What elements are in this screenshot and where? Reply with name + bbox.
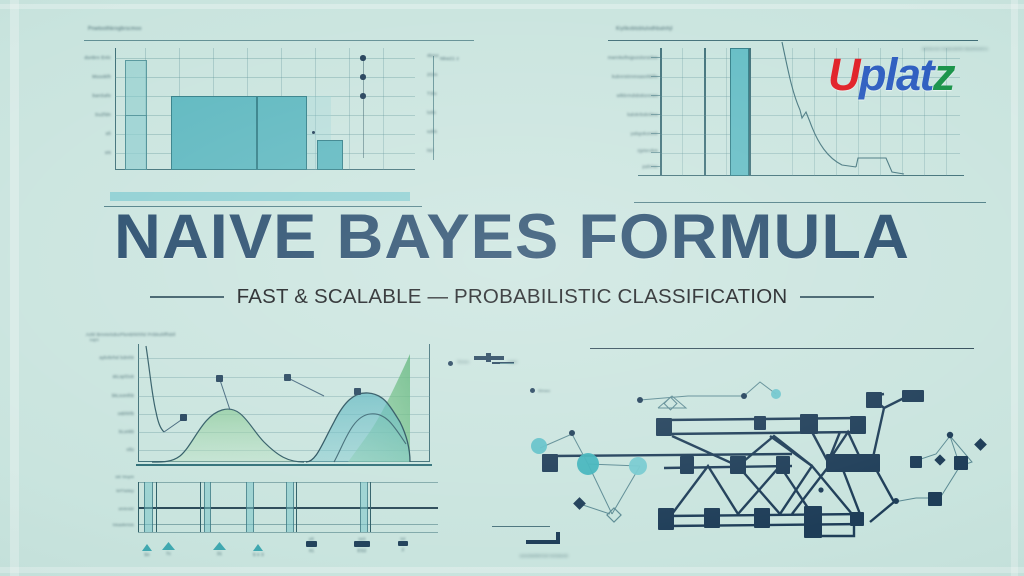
bottom-right-network-diagram: kzhzfsbfbfrl1bf brfzbknhl — [492, 336, 1016, 574]
band-divider — [370, 482, 371, 532]
top-left-bar-chart: Pnwtoothkrogbrscmoo Nkw21 z dunbrx Enlc … — [84, 26, 474, 191]
logo-letter-z: z — [933, 49, 954, 100]
chip-icon — [354, 541, 370, 547]
y-tick-label: banSafe — [92, 93, 111, 98]
chart-top-rule — [608, 40, 978, 41]
y-tick-label: nllo — [127, 447, 134, 452]
band — [360, 482, 368, 532]
gridline-h — [138, 532, 438, 533]
band-divider — [138, 482, 139, 532]
chart-baseplate — [110, 192, 410, 201]
gridline-v — [349, 48, 350, 170]
band-chip-label: 31 — [213, 551, 226, 556]
bar — [257, 96, 307, 170]
band — [286, 482, 294, 532]
y-tick-label: Muuoklh — [92, 74, 111, 79]
band-chip-label: 7c — [162, 551, 175, 556]
plot-area: aybzbrhsl bdmhk skLsplOok bkLsomlhb osbh… — [138, 344, 430, 462]
bar-segment — [125, 115, 147, 170]
network-graph — [492, 336, 1016, 574]
right-tick-label: sdkk — [427, 129, 437, 134]
annotation-marker — [180, 414, 187, 421]
chart-top-rule — [84, 40, 474, 41]
marker-guide-line — [363, 58, 364, 158]
gridline-h — [115, 77, 415, 78]
band — [144, 482, 153, 532]
distribution-curves — [138, 344, 430, 462]
triangle-icon — [253, 544, 263, 551]
band-chip-label: 41 — [306, 548, 317, 553]
bottom-left-band-chart: skl hluym lkfTlsbkp slnbrsbl hlsadbrlsls — [138, 482, 438, 532]
band-chip-label: ES2 — [354, 548, 370, 553]
band — [246, 482, 254, 532]
triangle-icon — [213, 542, 226, 550]
y-tick-label: sfi — [106, 131, 111, 136]
y-tick-label: slnbrsbl — [119, 506, 134, 511]
legend-dot-icon — [448, 361, 453, 366]
annotation-marker — [216, 375, 223, 382]
scatter-dot — [360, 55, 366, 61]
band-chip-top: b4 — [398, 536, 408, 541]
chip-icon — [306, 541, 317, 547]
chart-title-sub: kajhl — [90, 338, 99, 342]
y-tick-label: skLsplOok — [113, 374, 134, 379]
band-divider — [200, 482, 201, 532]
y-tick-label: osbhlrlb — [118, 411, 134, 416]
right-tick-label: hkl — [427, 148, 433, 153]
band-chip-label: 5 n 3 — [253, 552, 264, 557]
chart-title: Azbl Brnmnlobo — [86, 332, 120, 337]
annotation-marker — [284, 374, 291, 381]
y-axis — [115, 48, 116, 170]
uplatz-logo[interactable]: Uplatz — [828, 52, 954, 97]
band-chip-top: p5 — [306, 536, 317, 541]
gridline-v — [383, 48, 384, 170]
y-tick-label: SuZfdn — [95, 112, 111, 117]
bar — [171, 96, 257, 170]
band-chip: p5 41 — [306, 536, 317, 553]
band-divider — [296, 482, 297, 532]
band — [204, 482, 211, 532]
band-chip: 31 — [213, 542, 226, 556]
chip-icon — [398, 541, 408, 546]
subtitle-rule-left — [150, 296, 224, 297]
y-tick-label: bLunkb — [119, 429, 134, 434]
scatter-dot — [360, 74, 366, 80]
gridline-h — [115, 58, 415, 59]
band-chip: 5n — [142, 544, 152, 557]
y-tick-label: lkfTlsbkp — [116, 488, 134, 493]
band-divider — [156, 482, 157, 532]
right-tick-label: T3lo — [427, 91, 437, 96]
triangle-icon — [142, 544, 152, 551]
page-subtitle: FAST & SCALABLE — PROBABILISTIC CLASSIFI… — [237, 285, 788, 309]
band-chip: 7c — [162, 542, 175, 556]
band-chip-label: 5n — [142, 552, 152, 557]
y-tick-label: hlsadbrlsls — [113, 522, 134, 527]
plot-area: dunbrx Enlc Muuoklh banSafe SuZfdn sfi s… — [115, 48, 415, 170]
band-chip: b4 2 — [398, 536, 408, 552]
poster-canvas: Pnwtoothkrogbrscmoo Nkw21 z dunbrx Enlc … — [0, 0, 1024, 576]
chart-subtitle: Plsmbhlrhfsl Pribkoltfffsbll — [120, 332, 175, 337]
subtitle-rule-right — [800, 296, 874, 297]
frame-band-top — [0, 4, 1024, 9]
right-tick-label: lolki — [427, 110, 436, 115]
scatter-dot — [360, 93, 366, 99]
band-chip: sa3 ES2 — [354, 536, 370, 553]
band-chip: 5 n 3 — [253, 544, 264, 557]
diagram-caption: kzhzfsbfbfrl1bf brfzbknhl — [520, 553, 568, 558]
right-axis-caption: Nkw21 z — [440, 56, 459, 61]
title-block: NAIVE BAYES FORMULA FAST & SCALABLE — PR… — [0, 206, 1024, 309]
page-title: NAIVE BAYES FORMULA — [0, 206, 1024, 269]
chart-title: Pnwtoothkrogbrscmoo — [88, 26, 142, 32]
y-tick-label: aybzbrhsl bdmhk — [99, 355, 134, 360]
logo-text-plat: plat — [859, 49, 933, 100]
panel-separator — [136, 464, 432, 466]
bar — [317, 140, 343, 170]
annotation-marker — [354, 388, 361, 395]
y-tick-label: sN — [105, 150, 111, 155]
right-tick-label: 4kmz — [427, 53, 439, 58]
legend-label: Stnwo — [457, 359, 469, 364]
chart-title: Kiylikobtsblulodhbalnhjl — [616, 26, 673, 32]
band-chip-label: 2 — [398, 547, 408, 552]
subtitle-row: FAST & SCALABLE — PROBABILISTIC CLASSIFI… — [0, 285, 1024, 309]
y-tick-label: skl hluym — [116, 474, 134, 479]
y-tick-label: dunbrx Enlc — [85, 55, 111, 60]
bottom-left-distribution-chart: Azbl Brnmnlobo Plsmbhlrhfsl Pribkoltfffs… — [78, 332, 478, 568]
triangle-icon — [162, 542, 175, 550]
logo-letter-u: U — [828, 49, 859, 100]
legend-stem-icon — [486, 353, 491, 362]
right-tick-label: 2Gm — [427, 72, 438, 77]
band-chip-top: sa3 — [354, 536, 370, 541]
y-tick-label: bkLsomlhb — [112, 393, 134, 398]
